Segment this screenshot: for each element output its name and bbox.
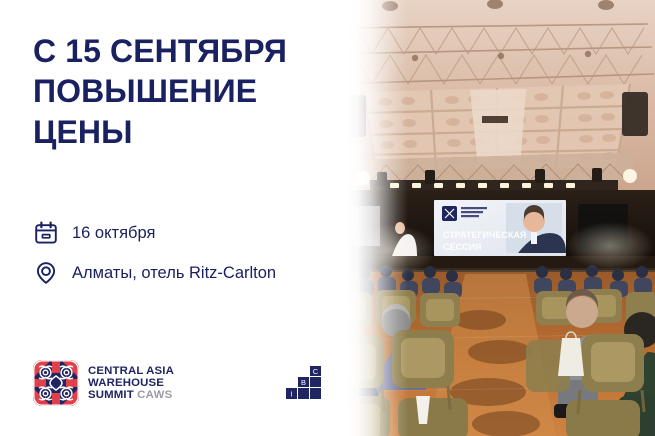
screen-caption-line1: СТРАТЕГИЧЕСКАЯ (443, 230, 526, 240)
caws-logo: CENTRAL ASIA WAREHOUSE SUMMIT CAWS (33, 360, 174, 406)
caws-wordmark: CENTRAL ASIA WAREHOUSE SUMMIT CAWS (88, 365, 174, 402)
calendar-icon (33, 220, 59, 246)
promo-banner: СТРАТЕГИЧЕСКАЯ СЕССИЯ (0, 0, 655, 436)
caws-ornament-mark (33, 360, 79, 406)
screen-caption-line2: СЕССИЯ (443, 242, 481, 252)
text-panel: С 15 СЕНТЯБРЯ ПОВЫШЕНИЕ ЦЕНЫ 16 октября (0, 0, 348, 436)
event-date-label: 16 октября (72, 220, 155, 246)
caws-line-1: CENTRAL ASIA (88, 365, 174, 377)
caws-line-2: WAREHOUSE (88, 377, 164, 389)
caws-line-3: SUMMIT (88, 389, 134, 401)
event-date-row: 16 октября (33, 220, 155, 246)
location-pin-icon (33, 260, 59, 286)
event-location-row: Алматы, отель Ritz-Carlton (33, 260, 276, 286)
svg-text:B: B (301, 378, 306, 387)
cbi-staircase-mark: I B C (286, 366, 322, 400)
page-title: С 15 СЕНТЯБРЯ ПОВЫШЕНИЕ ЦЕНЫ (33, 31, 333, 152)
caws-abbr: CAWS (137, 389, 172, 401)
svg-text:I: I (290, 390, 292, 399)
conference-hall-photo: СТРАТЕГИЧЕСКАЯ СЕССИЯ (330, 0, 655, 436)
event-location-label: Алматы, отель Ritz-Carlton (72, 260, 276, 286)
svg-text:C: C (313, 367, 319, 376)
